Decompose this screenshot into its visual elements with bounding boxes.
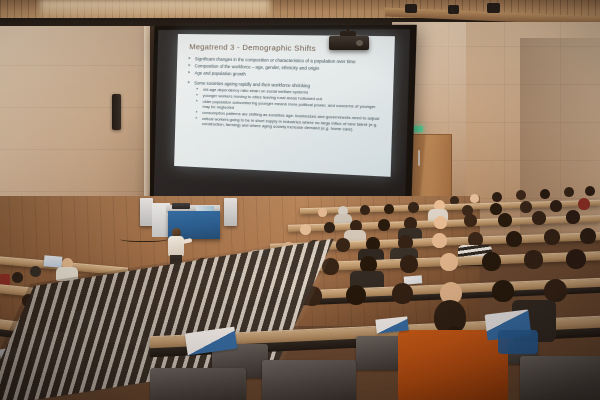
audience-head: [318, 208, 327, 217]
audience-head: [434, 216, 447, 229]
audience-head: [550, 200, 562, 212]
ceiling-light-glow: [40, 0, 270, 18]
audience-head: [346, 285, 366, 305]
track-light-icon: [487, 3, 500, 13]
audience-head: [378, 219, 390, 231]
presentation-slide: Megatrend 3 - Demographic Shifts Signifi…: [174, 34, 395, 177]
audience-head: [566, 210, 580, 224]
track-light-icon: [405, 4, 417, 13]
audience-head: [360, 205, 370, 215]
lectern-equipment-icon: [172, 203, 190, 209]
audience-head: [544, 229, 560, 245]
audience-head: [540, 189, 550, 199]
seat[interactable]: [262, 360, 356, 400]
audience-head: [384, 204, 394, 214]
slide-bullet-list: Significant changes in the composition o…: [185, 56, 385, 134]
laptop-screen: [44, 255, 63, 268]
audience-head: [492, 280, 514, 302]
audience-head: [532, 211, 546, 225]
projector-lens-icon: [356, 40, 363, 46]
audience-head: [585, 186, 595, 196]
audience-head: [498, 213, 512, 227]
audience-head: [516, 190, 526, 200]
audience-head: [300, 224, 311, 235]
audience-head: [408, 202, 419, 213]
audience-head: [464, 214, 477, 227]
loudspeaker-column-right: [224, 198, 237, 226]
bag-blue: [498, 330, 538, 354]
presenter-speaker: [168, 236, 184, 256]
wall-speaker-left-icon: [112, 94, 121, 130]
audience-head: [524, 250, 543, 269]
lectern-papers: [196, 206, 214, 211]
audience-head: [492, 192, 502, 202]
floor-cable: [120, 235, 168, 242]
audience-head: [400, 255, 418, 273]
attendee-orange-jacket: [398, 330, 508, 400]
track-light-icon: [448, 5, 459, 14]
door-handle-icon[interactable]: [418, 150, 420, 166]
ceiling-projector: [329, 36, 369, 50]
seat[interactable]: [150, 368, 246, 400]
audience-head: [506, 231, 522, 247]
audience-head: [578, 198, 590, 210]
audience-head: [324, 222, 335, 233]
audience-head: [544, 279, 567, 302]
audience-head: [482, 252, 501, 271]
audience-head: [336, 238, 350, 252]
audience-head: [12, 272, 23, 283]
audience-head: [470, 194, 479, 203]
audience-head: [566, 249, 586, 269]
audience-head: [564, 187, 574, 197]
lecture-hall-photo: Megatrend 3 - Demographic Shifts Signifi…: [0, 0, 600, 400]
audience-head: [30, 266, 41, 277]
audience-head: [520, 201, 532, 213]
audience-head: [580, 228, 596, 244]
seat[interactable]: [520, 356, 600, 400]
audience-head: [440, 253, 458, 271]
audience-head: [392, 283, 413, 304]
audience-head: [432, 233, 447, 248]
